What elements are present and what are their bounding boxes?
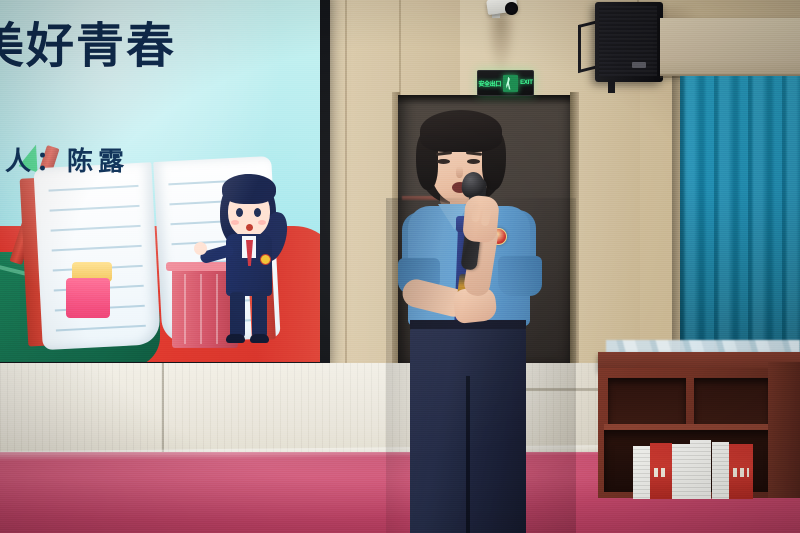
booklet-stack-item [672,444,690,499]
exit-sign-english-label: EXIT [520,80,533,86]
projection-screen: 美好青春 讲人：陈露 [0,0,320,362]
window-curtain [680,76,800,358]
booklet-stack-item [690,440,711,499]
wall-speaker-icon [595,2,663,82]
camera-shadow [486,16,516,72]
booklet-stack-item [712,442,729,499]
camera-lens-icon [505,2,518,15]
running-man-icon [503,75,518,92]
wall-seam [345,0,347,368]
speaker-grille [599,6,657,76]
nose [456,166,463,178]
eye [437,159,450,164]
speaker-logo [632,62,646,68]
hair-fringe [420,110,502,152]
exit-sign: 安全出口 EXIT [477,70,534,96]
slide-subtitle: 讲人：陈露 [0,146,129,176]
curtain-pelmet [660,18,800,76]
photo-scene: 美好青春 讲人：陈露 安全出口 EXIT [0,0,800,533]
desk-side-panel [768,362,800,498]
sleeve-right [498,256,542,296]
slide-title: 美好青春 [0,20,176,74]
exit-sign-chinese-label: 安全出口 [478,79,501,88]
booklet-stack-item [729,444,753,499]
speaker-person [386,108,576,533]
booklet-stack-item [650,443,672,499]
desk-cubby [608,378,686,426]
speaker-mount-stem [608,80,615,93]
curtain-shadow [672,76,688,358]
booklet-stack-item [633,446,650,499]
desk-cubby [694,378,770,426]
eye [467,159,480,164]
trouser-crease [466,376,470,533]
